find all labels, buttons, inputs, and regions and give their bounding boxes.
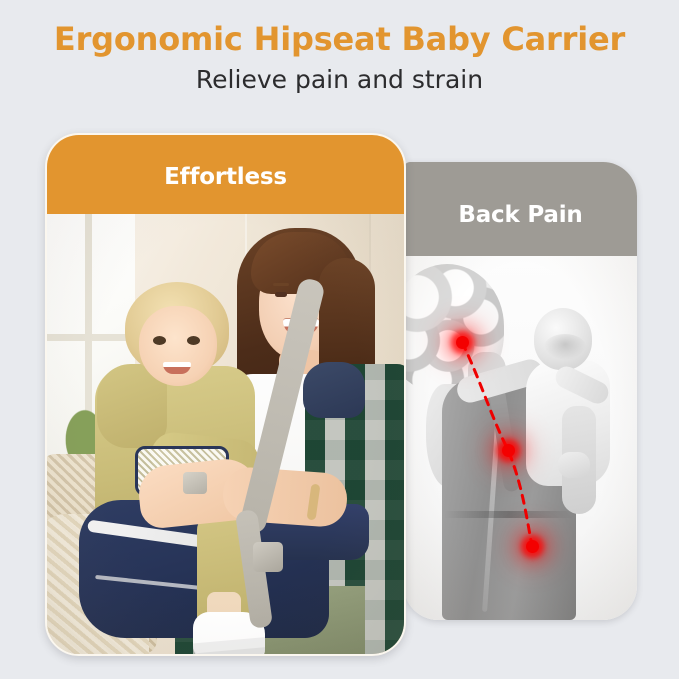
mother-eye-left	[275, 292, 287, 297]
window-mullion-horizontal	[47, 334, 135, 341]
page-subtitle: Relieve pain and strain	[0, 59, 679, 95]
effortless-card: Effortless	[45, 133, 406, 656]
back-pain-photo	[404, 256, 637, 620]
effortless-badge-label: Effortless	[164, 164, 287, 190]
baby-face	[139, 306, 217, 386]
pain-point-upper-back	[456, 336, 469, 349]
pain-point-lower-back	[526, 540, 539, 553]
mother-eyebrow-left	[273, 283, 289, 286]
back-pain-card: Back Pain	[404, 162, 637, 620]
effortless-photo	[47, 214, 404, 654]
baby-eye-left	[153, 336, 166, 345]
baby-eye-right	[187, 336, 200, 345]
header: Ergonomic Hipseat Baby Carrier Relieve p…	[0, 0, 679, 95]
pain-path-icon	[404, 256, 637, 620]
page-title: Ergonomic Hipseat Baby Carrier	[0, 0, 679, 59]
infographic-root: Ergonomic Hipseat Baby Carrier Relieve p…	[0, 0, 679, 679]
baby-mouth	[163, 362, 191, 374]
back-pain-illustration	[404, 256, 637, 620]
carrier-buckle-secondary	[183, 472, 207, 494]
back-pain-badge-label: Back Pain	[458, 202, 582, 228]
carrier-buckle	[253, 542, 283, 572]
effortless-badge: Effortless	[47, 135, 404, 214]
pain-point-mid-back	[502, 444, 515, 457]
mother-navy-hood	[303, 362, 365, 418]
back-pain-badge: Back Pain	[404, 162, 637, 256]
